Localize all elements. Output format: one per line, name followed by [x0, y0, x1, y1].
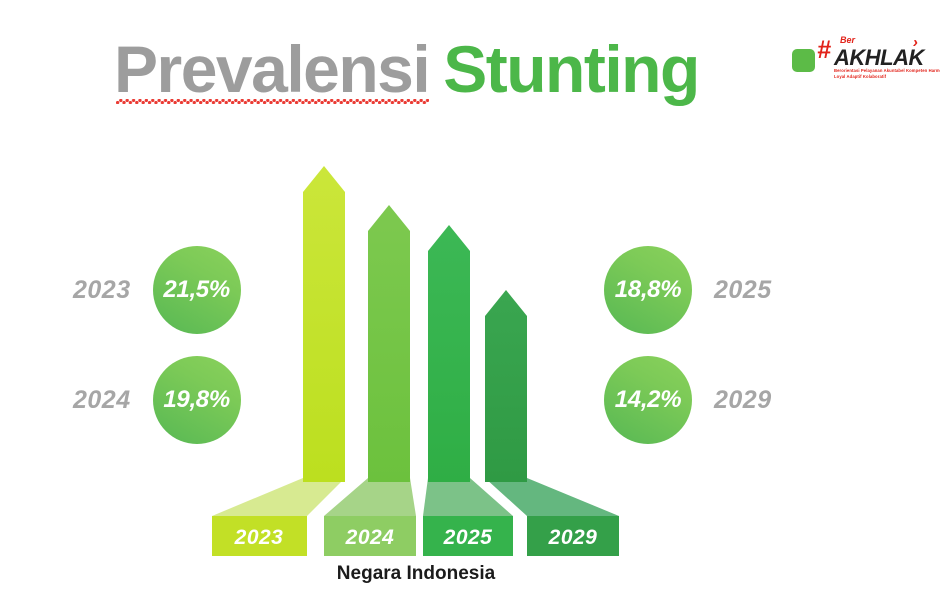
- page-title: PrevalensiStunting: [114, 36, 699, 102]
- stat-value: 21,5%: [163, 276, 230, 304]
- logo-green-square-icon: [792, 49, 815, 72]
- bar-2024: [368, 205, 410, 482]
- bar-year-label: 2029: [548, 526, 598, 549]
- bar-year-label: 2024: [345, 526, 395, 549]
- bar-plinth-2023: [212, 516, 307, 556]
- title-word-accent: Stunting: [443, 36, 699, 102]
- stat-year-label: 2023: [73, 276, 131, 305]
- logo-akhlak-text: AKHLAK: [834, 47, 924, 69]
- bar-2023: [303, 166, 345, 482]
- logo-tagline: Berorientasi Pelayanan Akuntabel Kompete…: [834, 68, 940, 81]
- bar-columns: [303, 166, 527, 482]
- berakhlak-logo: # Ber AKHLAK › Berorientasi Pelayanan Ak…: [789, 31, 925, 87]
- stat-value: 18,8%: [615, 276, 682, 304]
- stat-bubble: 18,8%: [604, 246, 692, 334]
- stat-2025: 18,8% 2025: [604, 245, 772, 335]
- logo-ber-text: Ber: [840, 36, 855, 45]
- chart-caption: Negara Indonesia: [0, 563, 832, 585]
- stat-value: 14,2%: [615, 386, 682, 414]
- stat-2023: 2023 21,5%: [73, 245, 241, 335]
- stat-bubble: 14,2%: [604, 356, 692, 444]
- stat-2029: 14,2% 2029: [604, 355, 772, 445]
- stat-value: 19,8%: [163, 386, 230, 414]
- bar-pedestal: [212, 478, 345, 516]
- bar-2025: [428, 225, 470, 482]
- bar-year-labels: 2023 2024 2025 2029: [234, 526, 598, 549]
- bar-plinth-2025: [423, 516, 513, 556]
- bar-pedestal: [324, 478, 416, 516]
- stat-bubble: 19,8%: [153, 356, 241, 444]
- bar-pedestal: [485, 478, 619, 516]
- stat-2024: 2024 19,8%: [73, 355, 241, 445]
- stat-year-label: 2029: [714, 386, 772, 415]
- stat-year-label: 2025: [714, 276, 772, 305]
- stunting-prevalence-infographic: { "title": { "word_plain": "Prevalensi",…: [0, 0, 940, 607]
- bar-plinth-2024: [324, 516, 416, 556]
- title-word-plain: Prevalensi: [114, 36, 429, 102]
- bar-pedestals: [212, 478, 619, 516]
- bar-year-label: 2023: [234, 526, 284, 549]
- bar-2029: [485, 290, 527, 482]
- logo-hash-icon: #: [817, 38, 831, 63]
- bar-year-label: 2025: [443, 526, 493, 549]
- bar-pedestal: [423, 478, 513, 516]
- bar-plinths: [212, 516, 619, 556]
- bar-plinth-2029: [527, 516, 619, 556]
- stat-year-label: 2024: [73, 386, 131, 415]
- stat-bubble: 21,5%: [153, 246, 241, 334]
